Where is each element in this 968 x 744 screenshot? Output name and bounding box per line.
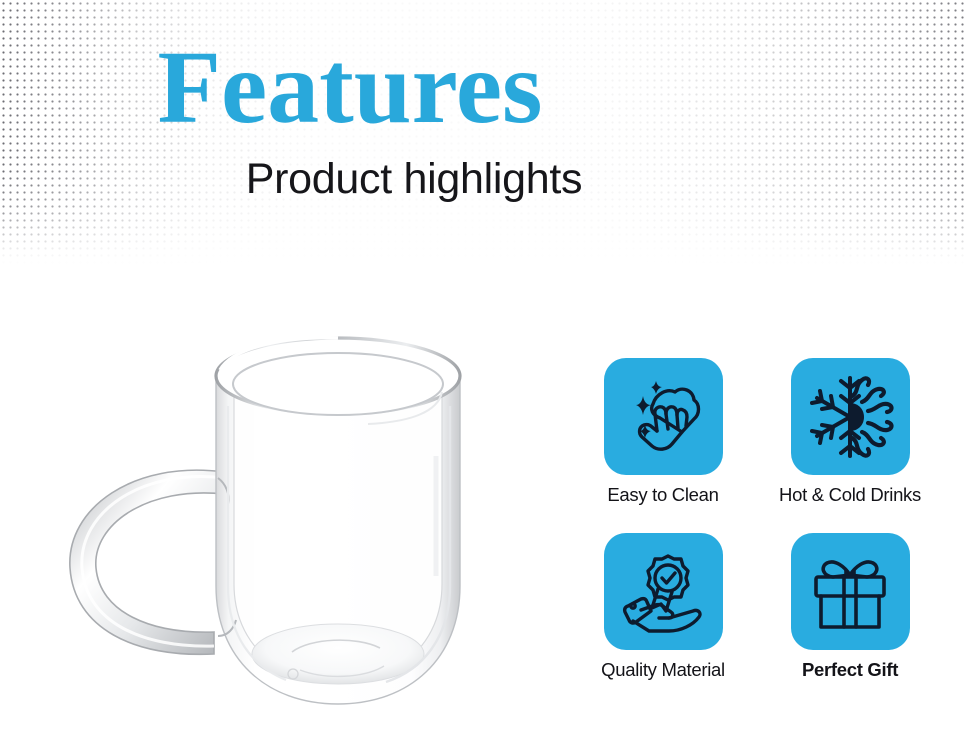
feature-label: Hot & Cold Drinks [779,485,921,505]
feature-tile [604,533,723,650]
page-title: Features [0,36,700,140]
feature-label: Quality Material [601,660,725,680]
feature-label: Perfect Gift [802,660,898,680]
gift-box-icon [807,549,893,635]
feature-tile [604,358,723,475]
feature-item-perfect-gift[interactable]: Perfect Gift [783,533,917,680]
feature-highlights-page: Features Product highlights [0,0,968,744]
hand-holding-quality-badge-icon [619,548,707,636]
feature-item-quality-material[interactable]: Quality Material [596,533,730,680]
feature-grid: Easy to Clean [596,358,940,681]
hand-wiping-cloth-sparkle-icon [620,374,706,460]
product-image-glass-mug [38,336,578,736]
page-subtitle: Product highlights [0,158,968,201]
snowflake-sun-icon [805,372,895,462]
feature-label: Easy to Clean [607,485,718,505]
feature-tile [791,358,910,475]
sun-icon [850,403,864,431]
feature-tile [791,533,910,650]
feature-item-hot-and-cold-drinks[interactable]: Hot & Cold Drinks [783,358,917,505]
feature-item-easy-to-clean[interactable]: Easy to Clean [596,358,730,505]
